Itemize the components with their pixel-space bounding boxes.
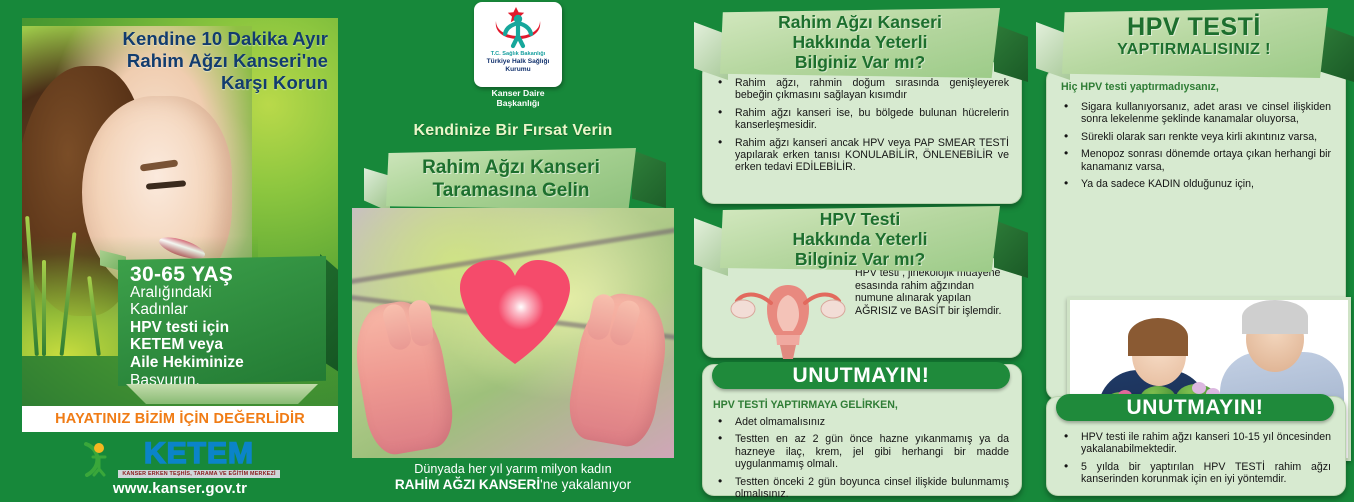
left-headline-line3: Karşı Korun (82, 72, 328, 94)
box2-header-line1: HPV Testi (724, 209, 996, 229)
age-range-title: 30-65 YAŞ (130, 266, 318, 284)
column-three: Rahim ağzı, rahmin doğum sırasında geniş… (694, 0, 1028, 502)
heart-sparkle (494, 280, 548, 334)
ketem-logo-row: KETEM KANSER ERKEN TEŞHİS, TARAMA VE EĞİ… (80, 439, 279, 478)
middle-ribbon-line1: Rahim Ağzı Kanseri (394, 156, 628, 179)
box1-header-line2: Hakkında Yeterli (724, 32, 996, 52)
middle-caption-bold: RAHİM AĞZI KANSERİ (395, 477, 540, 492)
middle-caption: Dünyada her yıl yarım milyon kadın RAHİM… (348, 462, 678, 493)
reminder-title-column3: UNUTMAYIN! (792, 364, 929, 388)
cervical-cancer-bullets: Rahim ağzı, rahmin doğum sırasında geniş… (709, 77, 1009, 174)
ministry-line2: Türkiye Halk Sağlığı (487, 58, 550, 66)
list-item: Menopoz sonrası dönemde ortaya çıkan her… (1055, 148, 1331, 173)
bloom (1192, 382, 1206, 394)
middle-ribbon-text: Rahim Ağzı Kanseri Taramasına Gelin (394, 156, 628, 202)
box2-header-line2: Hakkında Yeterli (724, 229, 996, 249)
column4-lead-text: Hiç HPV testi yaptırmadıysanız, (1061, 81, 1333, 93)
hpv-test-body-text: HPV testi , jinekolojik muayene esasında… (855, 267, 1007, 317)
man-hair (1242, 300, 1308, 334)
column4-header-line1: HPV TESTİ (1064, 14, 1324, 41)
column-four: Hiç HPV testi yaptırmadıysanız, Sigara k… (1036, 0, 1354, 502)
list-item: Testten en az 2 gün önce hazne yıkanmamı… (709, 433, 1009, 470)
left-headline: Kendine 10 Dakika Ayır Rahim Ağzı Kanser… (82, 28, 328, 94)
uterus-diagram-icon (713, 265, 863, 361)
box2-header-line3: Bilginiz Var mı? (724, 249, 996, 269)
ketem-tagline: KANSER ERKEN TEŞHİS, TARAMA VE EĞİTİM ME… (118, 470, 279, 478)
middle-kicker: Kendinize Bir Fırsat Verin (348, 122, 678, 140)
left-headline-line2: Rahim Ağzı Kanseri'ne (82, 50, 328, 72)
box1-header-line1: Rahim Ağzı Kanseri (724, 12, 996, 32)
ministry-subtitle: Kanser Daire Başkanlığı (460, 88, 576, 108)
list-item: Rahim ağzı kanseri ise, bu bölgede bulun… (709, 107, 1009, 132)
list-item: 5 yılda bir yaptırılan HPV TESTİ rahim a… (1055, 461, 1331, 486)
card-shadow-foot (122, 384, 322, 404)
middle-caption-line2: RAHİM AĞZI KANSERİ'ne yakalanıyor (348, 477, 678, 493)
ministry-line1: T.C. Sağlık Bakanlığı (491, 51, 545, 58)
value-strip: HAYATINIZ BİZİM İÇİN DEĞERLİDİR (22, 406, 338, 432)
age-range-line5: KETEM veya (130, 336, 223, 353)
ketem-url[interactable]: www.kanser.gov.tr (113, 480, 247, 497)
age-range-line4: HPV testi için (130, 319, 229, 336)
ministry-line3: Kurumu (505, 66, 530, 74)
list-item: Sürekli olarak sarı renkte veya kirli ak… (1055, 131, 1331, 143)
value-strip-text: HAYATINIZ BİZİM İÇİN DEĞERLİDİR (55, 411, 305, 427)
ketem-wordmark: KETEM KANSER ERKEN TEŞHİS, TARAMA VE EĞİ… (118, 439, 279, 478)
list-item: Rahim ağzı, rahmin doğum sırasında geniş… (709, 77, 1009, 102)
ministry-sub-line1: Kanser Daire (460, 88, 576, 98)
reminder-lead-text: HPV TESTİ YAPTIRMAYA GELİRKEN, (713, 399, 1011, 411)
age-range-line2: Aralığındaki (130, 284, 212, 301)
column4-header-line2: YAPTIRMALISINIZ ! (1064, 41, 1324, 59)
list-item: Rahim ağzı kanseri ancak HPV veya PAP SM… (709, 137, 1009, 174)
age-range-text: 30-65 YAŞ Aralığındaki Kadınlar HPV test… (130, 266, 318, 389)
box2-header-text: HPV Testi Hakkında Yeterli Bilginiz Var … (724, 209, 996, 269)
column4-bullets: Sigara kullanıyorsanız, adet arası ve ci… (1055, 101, 1331, 190)
reminder-title-pill-column4: UNUTMAYIN! (1056, 394, 1334, 421)
age-range-card: 30-65 YAŞ Aralığındaki Kadınlar HPV test… (118, 256, 326, 386)
middle-caption-line1: Dünyada her yıl yarım milyon kadın (348, 462, 678, 477)
reminder-bullets-column4: HPV testi ile rahim ağzı kanseri 10-15 y… (1055, 431, 1331, 486)
middle-caption-rest: 'ne yakalanıyor (540, 477, 631, 492)
hpv-must-test-box: Hiç HPV testi yaptırmadıysanız, Sigara k… (1046, 68, 1346, 400)
ministry-of-health-logo: T.C. Sağlık Bakanlığı Türkiye Halk Sağlı… (474, 2, 562, 87)
reminder-bullets-column3: Adet olmamalısınız Testten en az 2 gün ö… (709, 416, 1009, 500)
grass-blade (42, 260, 46, 356)
ministry-sub-line2: Başkanlığı (460, 98, 576, 108)
age-range-line3: Kadınlar (130, 301, 188, 318)
ketem-logo-block: KETEM KANSER ERKEN TEŞHİS, TARAMA VE EĞİ… (22, 438, 338, 498)
box1-header-text: Rahim Ağzı Kanseri Hakkında Yeterli Bilg… (724, 12, 996, 72)
brochure-canvas: Kendine 10 Dakika Ayır Rahim Ağzı Kanser… (0, 0, 1354, 502)
list-item: Adet olmamalısınız (709, 416, 1009, 428)
hands-holding-heart-photo (352, 208, 674, 458)
ketem-figure-icon (80, 441, 114, 477)
box1-header-line3: Bilginiz Var mı? (724, 52, 996, 72)
ministry-emblem-icon (488, 5, 548, 51)
left-headline-line1: Kendine 10 Dakika Ayır (82, 28, 328, 50)
column4-header-text: HPV TESTİ YAPTIRMALISINIZ ! (1064, 14, 1324, 59)
reminder-title-pill-column3: UNUTMAYIN! (712, 362, 1010, 389)
hpv-test-info-box: HPV testi , jinekolojik muayene esasında… (702, 258, 1022, 358)
middle-ribbon-line2: Taramasına Gelin (394, 179, 628, 202)
cervical-cancer-info-box: Rahim ağzı, rahmin doğum sırasında geniş… (702, 62, 1022, 204)
list-item: HPV testi ile rahim ağzı kanseri 10-15 y… (1055, 431, 1331, 456)
middle-ribbon-wing-right (632, 150, 666, 208)
list-item: Testten önceki 2 gün boyunca cinsel iliş… (709, 476, 1009, 501)
reminder-title-column4: UNUTMAYIN! (1126, 396, 1263, 420)
ketem-name: KETEM (144, 439, 254, 469)
age-range-line6: Aile Hekiminize (130, 354, 244, 371)
list-item: Ya da sadece KADIN olduğunuz için, (1055, 178, 1331, 190)
left-panel: Kendine 10 Dakika Ayır Rahim Ağzı Kanser… (22, 18, 338, 412)
middle-panel: T.C. Sağlık Bakanlığı Türkiye Halk Sağlı… (348, 0, 678, 502)
list-item: Sigara kullanıyorsanız, adet arası ve ci… (1055, 101, 1331, 126)
woman-hair (1128, 318, 1188, 356)
